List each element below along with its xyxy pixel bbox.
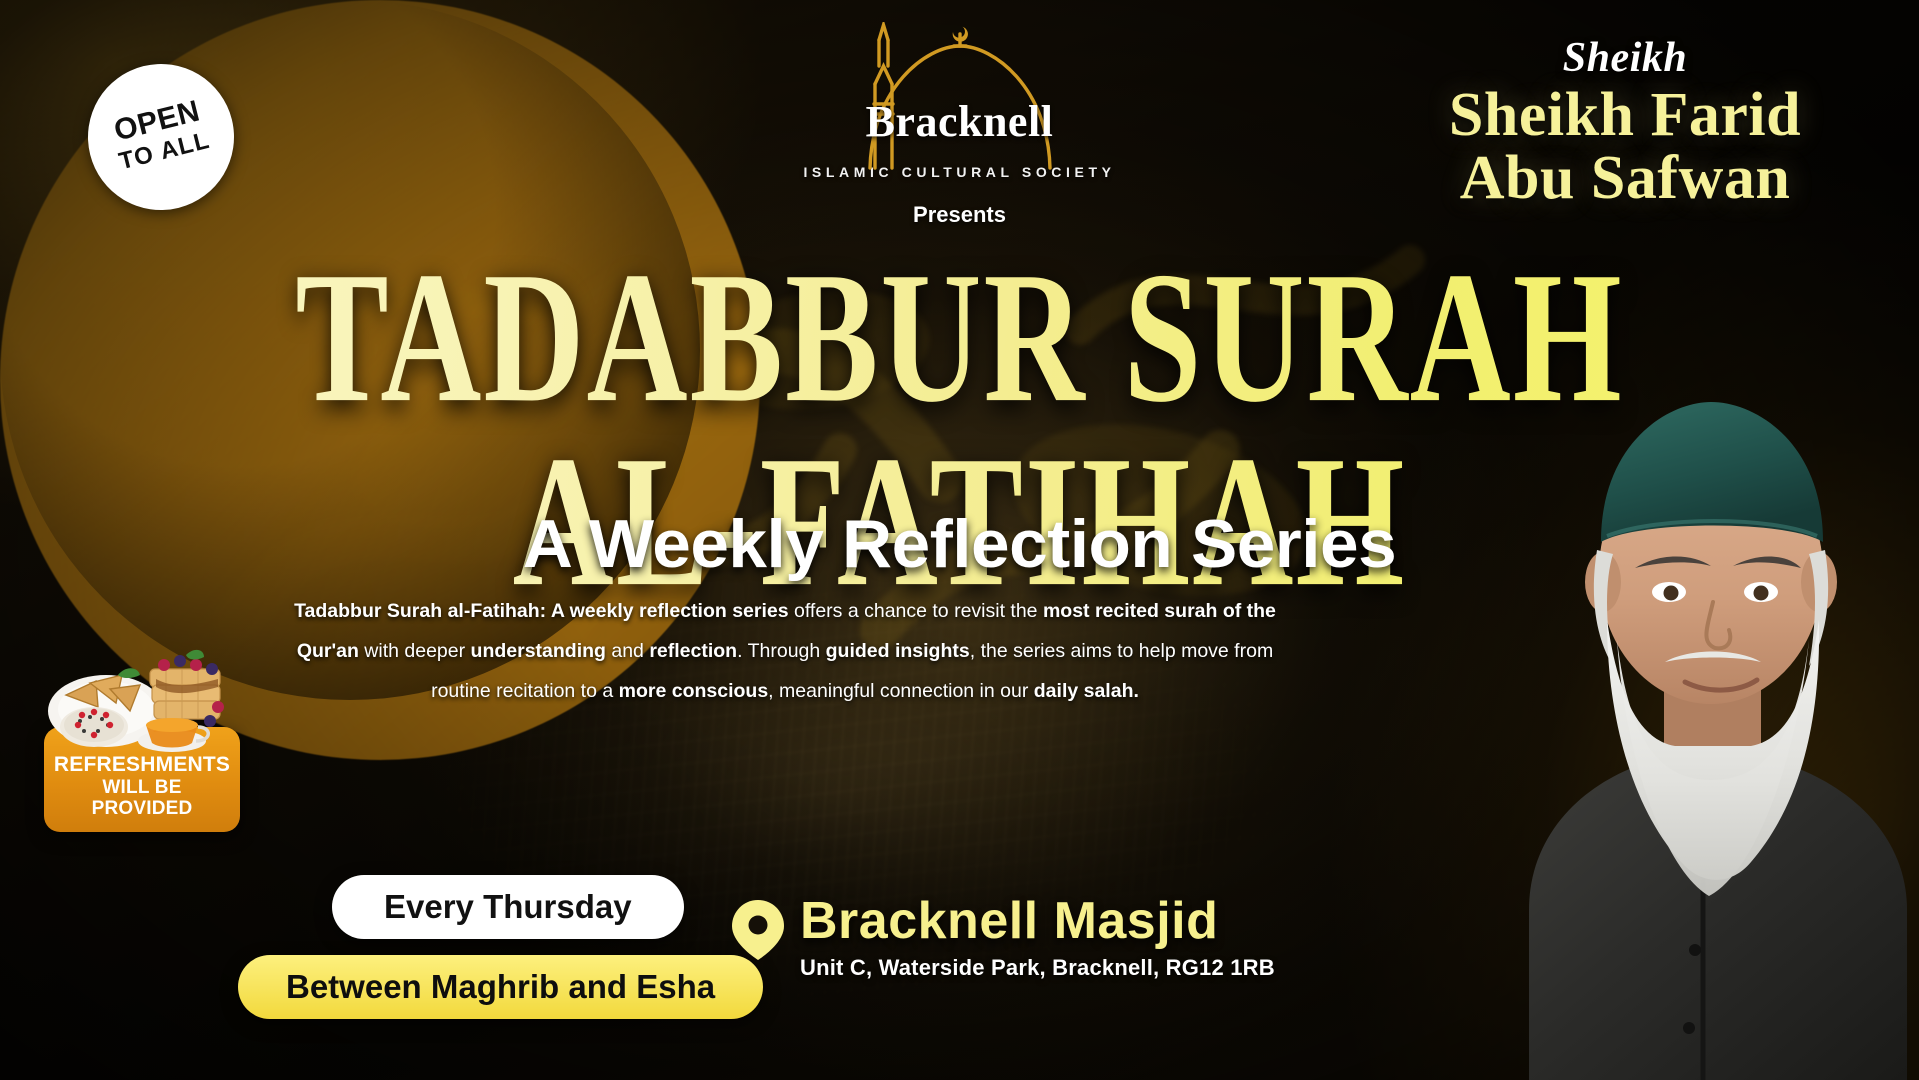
event-poster: OPEN TO ALL [0,0,1919,1080]
venue-name: Bracknell Masjid [800,894,1275,949]
schedule-day-pill: Every Thursday [332,875,684,939]
description-segment-12: daily salah. [1034,680,1139,702]
presents-label: Presents [913,202,1006,228]
description-segment-10: more conscious [619,680,769,702]
speaker-name-line2: Abu Safwan [1365,147,1885,210]
description-segment-3: with deeper [359,640,471,662]
description-segment-4: understanding [471,640,606,662]
description-segment-8: guided insights [826,640,970,662]
description-segment-0: Tadabbur Surah al-Fatihah: A weekly refl… [294,600,789,622]
schedule-time-pill: Between Maghrib and Esha [238,955,763,1019]
speaker-name: Sheikh Farid Abu Safwan [1365,84,1885,210]
poster-description: Tadabbur Surah al-Fatihah: A weekly refl… [290,592,1280,712]
speaker-prefix: Sheikh [1365,36,1885,80]
speaker-name-block: Sheikh Sheikh Farid Abu Safwan [1365,36,1885,211]
location-pin-icon [730,898,786,962]
mosque-minaret-dome-icon: Bracknell [830,22,1090,170]
venue-text: Bracknell Masjid Unit C, Waterside Park,… [800,892,1275,981]
description-segment-1: offers a chance to revisit the [789,600,1043,622]
description-segment-7: . Through [737,640,826,662]
speaker-name-line1: Sheikh Farid [1365,84,1885,147]
description-segment-11: , meaningful connection in our [768,680,1034,702]
venue-block: Bracknell Masjid Unit C, Waterside Park,… [730,892,1275,981]
refreshments-line2: WILL BE PROVIDED [52,777,232,821]
refreshments-line1: REFRESHMENTS [52,753,232,777]
description-segment-6: reflection [649,640,737,662]
description-segment-5: and [606,640,649,662]
refreshments-badge: REFRESHMENTS WILL BE PROVIDED [44,645,240,832]
venue-address: Unit C, Waterside Park, Bracknell, RG12 … [800,955,1275,981]
speaker-portrait [1489,310,1919,1080]
logo-wordmark: Bracknell [830,96,1090,147]
food-platter-icon [44,645,240,755]
